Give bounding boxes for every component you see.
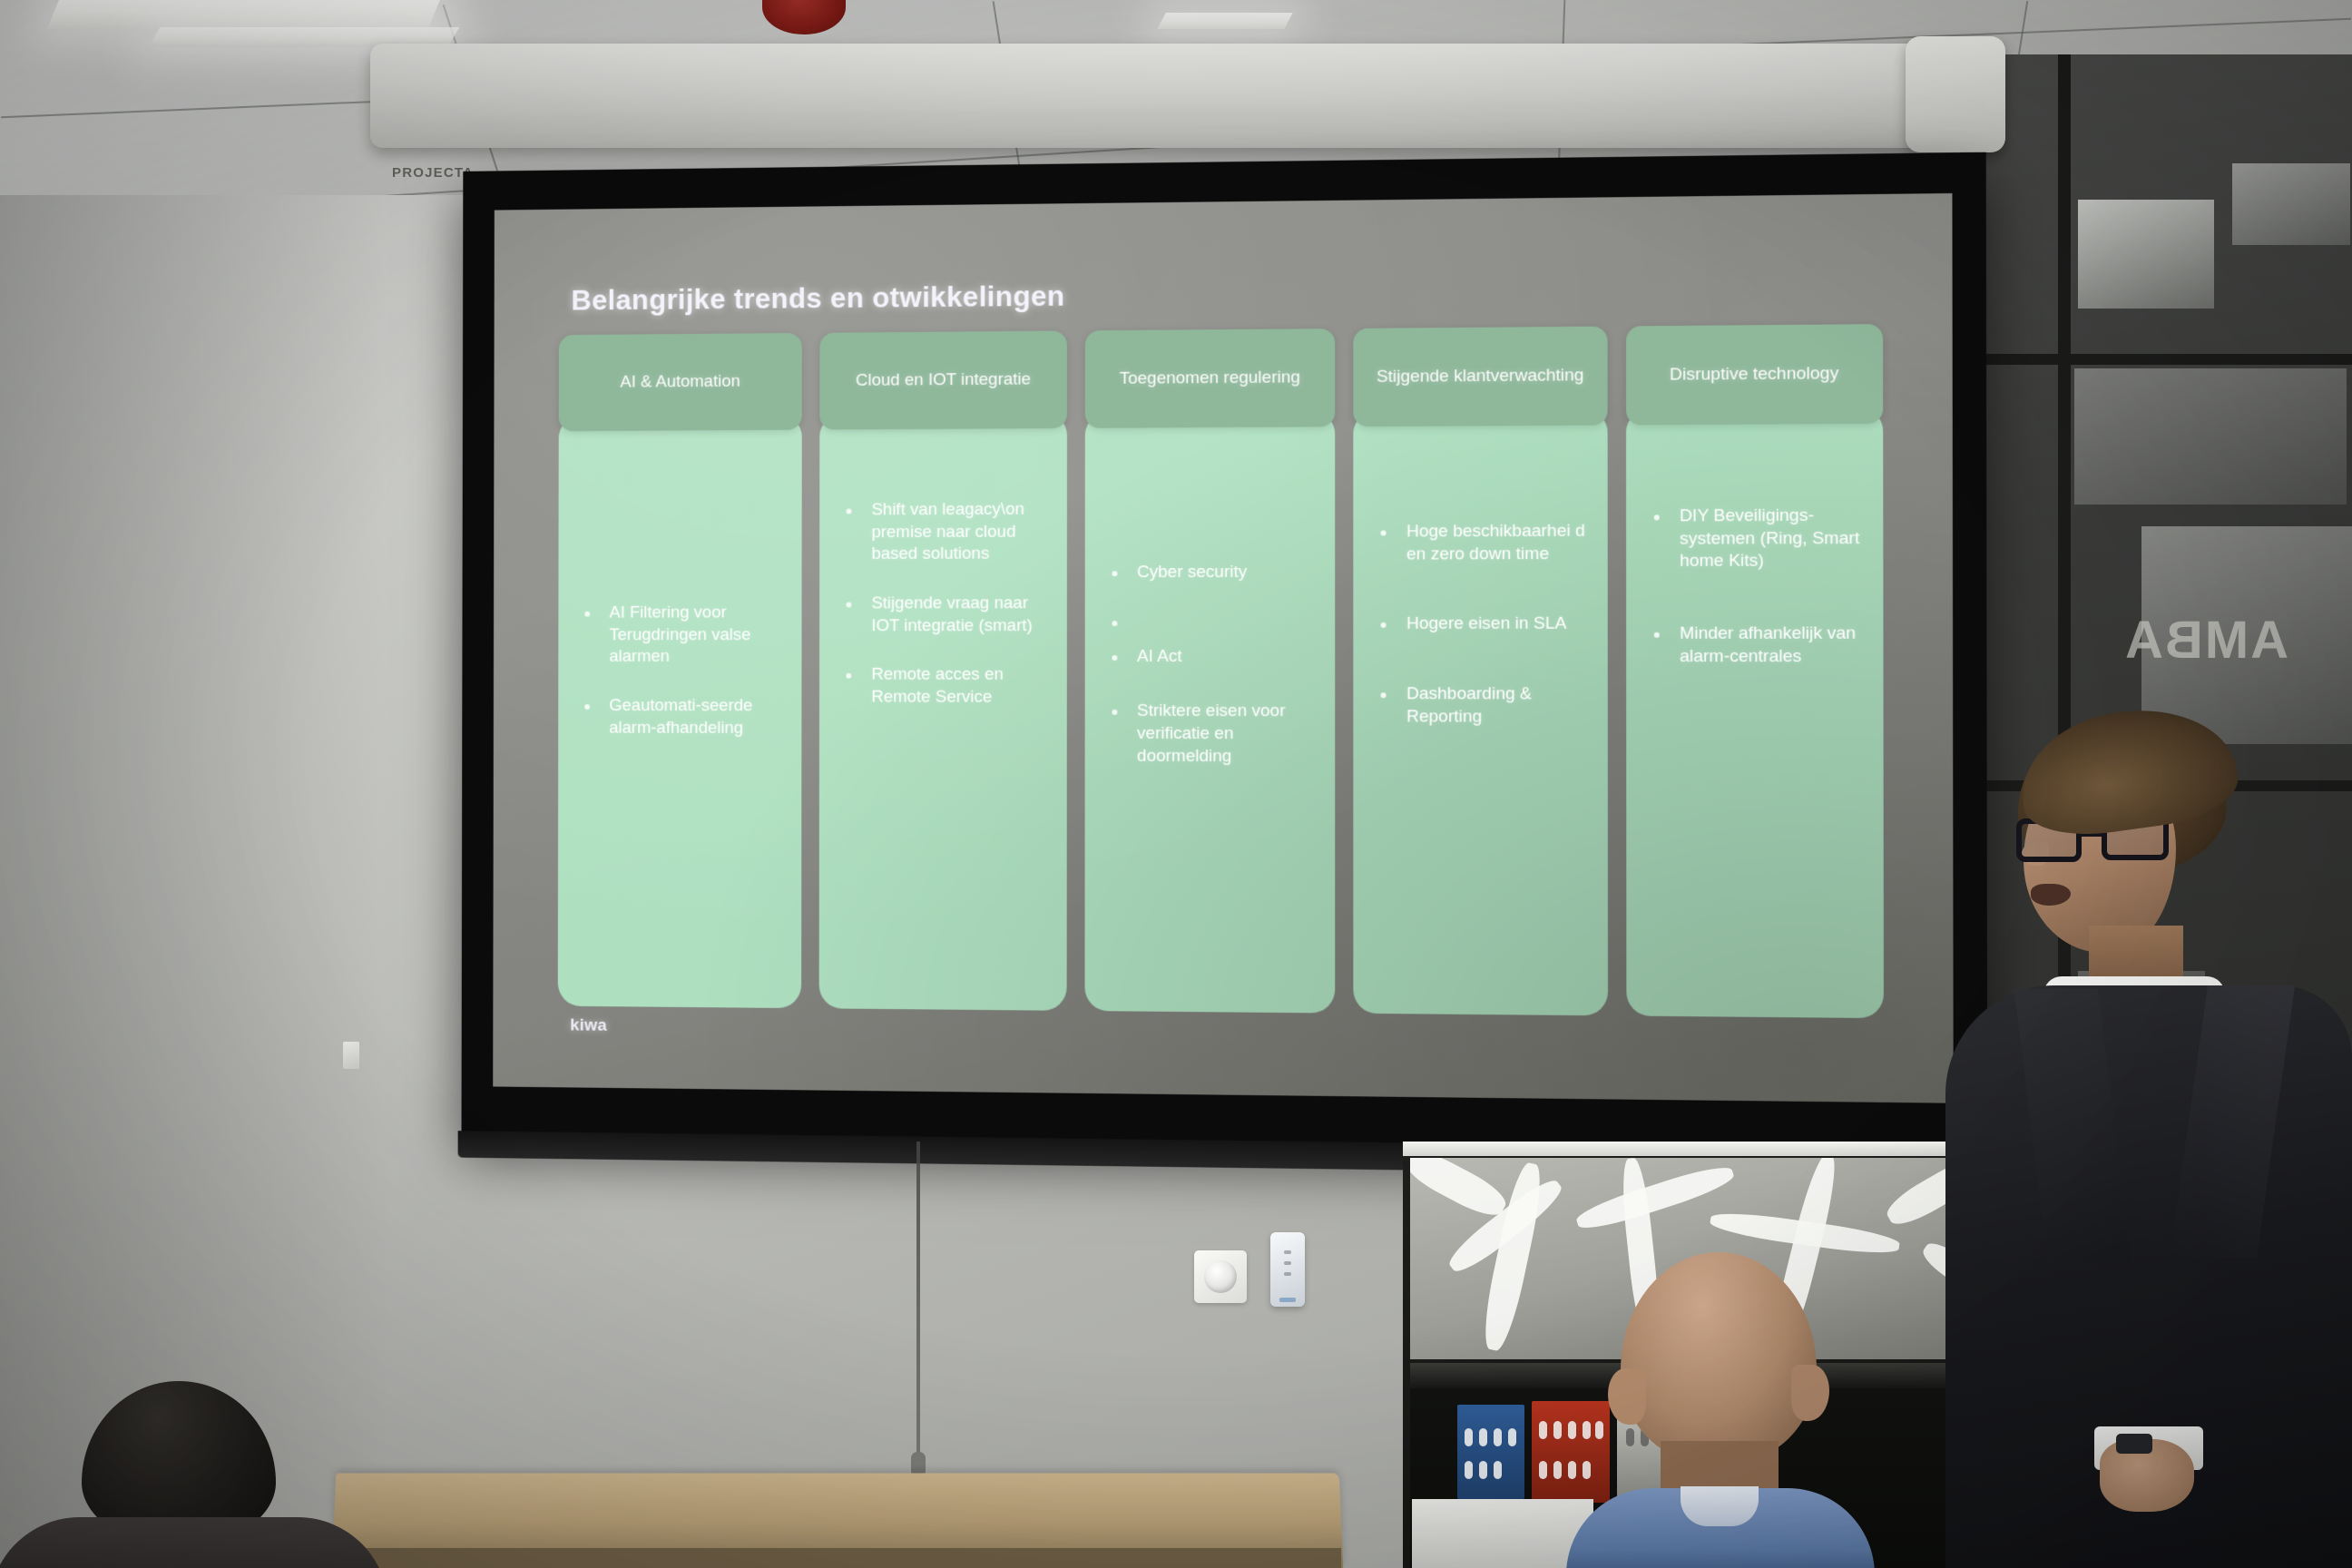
- glass-mullion: [1960, 354, 2352, 365]
- remote-led-indicator: [1279, 1298, 1296, 1302]
- presentation-clicker[interactable]: [2116, 1434, 2152, 1454]
- remote-button[interactable]: [1284, 1250, 1291, 1254]
- cabinet-base-panel: [1412, 1499, 1593, 1568]
- bullet-item: Hogere eisen in SLA: [1370, 613, 1599, 636]
- attendee-ear: [1608, 1368, 1646, 1425]
- column-header: Toegenomen regulering: [1085, 328, 1336, 428]
- presenter: [1929, 717, 2352, 1568]
- slide-column-5: Disruptive technology DIY Beveiligings-s…: [1626, 324, 1884, 1063]
- attendee-ear: [1791, 1365, 1829, 1421]
- remote-button[interactable]: [1284, 1261, 1291, 1265]
- projector-screen-end-cap: [1906, 36, 2005, 152]
- bullet-item: Hoge beschikbaarhei d en zero down time: [1370, 521, 1598, 566]
- slide-column-2: Cloud en IOT integratie Shift van leagac…: [819, 331, 1067, 1054]
- column-header-label: Toegenomen regulering: [1120, 367, 1300, 389]
- column-body: [1626, 407, 1884, 1019]
- bullet-item: AI Filtering voor Terugdringen valse ala…: [574, 603, 793, 669]
- cabinet-top-rail: [1403, 1142, 1984, 1156]
- column-header-label: Stijgende klantverwachting: [1377, 365, 1584, 388]
- slide-logo: kiwa: [570, 1016, 607, 1036]
- bullet-item: DIY Beveiligings-systemen (Ring, Smart h…: [1642, 505, 1874, 573]
- column-header: AI & Automation: [559, 333, 803, 431]
- bullet-item: Remote acces en Remote Service: [836, 664, 1058, 709]
- column-bullet-list: DIY Beveiligings-systemen (Ring, Smart h…: [1642, 505, 1874, 696]
- column-bullet-list: Shift van leagacy\on premise naar cloud …: [836, 499, 1058, 737]
- attendee-foreground-left: [16, 1381, 361, 1568]
- column-bullet-list: Cyber security AI Act Striktere eisen vo…: [1101, 562, 1326, 796]
- attendee-shoulders: [0, 1517, 388, 1568]
- slide-column-4: Stijgende klantverwachting Hoge beschikb…: [1354, 327, 1608, 1060]
- column-header-label: Disruptive technology: [1670, 363, 1838, 387]
- attendee-head: [1621, 1252, 1817, 1463]
- bullet-item: Shift van leagacy\on premise naar cloud …: [836, 499, 1058, 566]
- attendee-shirt-collar: [1681, 1486, 1759, 1526]
- product-box: [1457, 1405, 1524, 1499]
- projected-slide: Belangrijke trends en otwikkelingen AI &…: [493, 193, 1953, 1103]
- bullet-item: Stijgende vraag naar IOT integratie (sma…: [836, 593, 1058, 637]
- glass-reflection: [2232, 163, 2350, 245]
- column-header: Disruptive technology: [1626, 324, 1884, 425]
- column-bullet-list: Hoge beschikbaarhei d en zero down time …: [1370, 521, 1599, 757]
- wall-shadow: [0, 195, 390, 1568]
- slide-content: Belangrijke trends en otwikkelingen AI &…: [493, 193, 1953, 1103]
- slide-column-1: AI & Automation AI Filtering voor Terugd…: [558, 333, 803, 1052]
- table-edge: [334, 1548, 1341, 1568]
- bullet-item-empty: [1101, 612, 1326, 626]
- column-header: Stijgende klantverwachting: [1354, 327, 1608, 427]
- projection-screen[interactable]: Belangrijke trends en otwikkelingen AI &…: [461, 152, 1987, 1154]
- bullet-item: Dashboarding & Reporting: [1370, 683, 1599, 729]
- slide-column-3: Toegenomen regulering Cyber security AI …: [1084, 328, 1335, 1057]
- ceiling-light-panel: [1157, 13, 1293, 29]
- screen-pull-cord[interactable]: [916, 1142, 920, 1461]
- bullet-item: Cyber security: [1101, 562, 1326, 584]
- mirrored-wall-sign: AMBA: [2123, 610, 2288, 671]
- frosted-leaf-shape: [1410, 1158, 1511, 1223]
- attendee-foreground-right: [1593, 1252, 1847, 1568]
- column-header-label: AI & Automation: [621, 371, 740, 394]
- room-photo: AMBA PROJECTA Belangrijke trends en otwi…: [0, 0, 2352, 1568]
- bullet-item: Geautomati-seerde alarm-afhandeling: [574, 695, 793, 740]
- projector-brand-label: PROJECTA: [392, 165, 474, 181]
- light-dimmer-switch[interactable]: [1194, 1250, 1247, 1303]
- projector-remote-control[interactable]: [1270, 1232, 1305, 1307]
- glass-reflection: [2078, 200, 2214, 309]
- bullet-item: Striktere eisen voor verificatie en door…: [1101, 701, 1326, 769]
- column-bullet-list: AI Filtering voor Terugdringen valse ala…: [574, 603, 794, 767]
- column-header: Cloud en IOT integratie: [820, 331, 1067, 430]
- glass-reflection: [2074, 368, 2347, 505]
- wall-sensor: [343, 1042, 359, 1069]
- remote-button[interactable]: [1284, 1272, 1291, 1276]
- projector-screen-housing[interactable]: [370, 44, 1994, 148]
- slide-columns: AI & Automation AI Filtering voor Terugd…: [558, 324, 1884, 1063]
- slide-title: Belangrijke trends en otwikkelingen: [571, 271, 1883, 317]
- bullet-item: Minder afhankelijk van alarm-centrales: [1642, 623, 1874, 669]
- ceiling-light-panel: [47, 0, 443, 29]
- column-header-label: Cloud en IOT integratie: [856, 369, 1031, 392]
- bullet-item: AI Act: [1101, 646, 1326, 669]
